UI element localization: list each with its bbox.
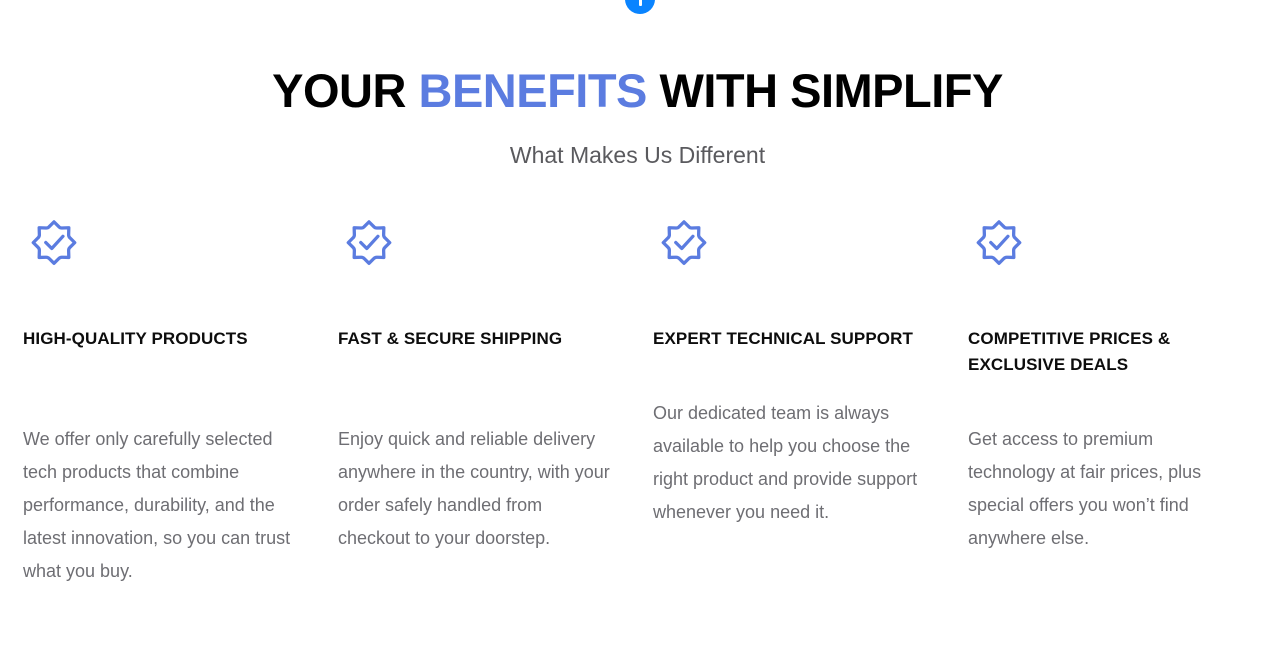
benefit-body: Enjoy quick and reliable delivery anywhe… [338,352,612,555]
benefit-body: We offer only carefully selected tech pr… [23,352,297,588]
benefit-title: COMPETITIVE PRICES & EXCLUSIVE DEALS [968,274,1238,378]
section-header: YOUR BENEFITS WITH SIMPLIFY What Makes U… [0,0,1275,170]
page-subtitle: What Makes Us Different [0,120,1275,170]
benefit-title: HIGH-QUALITY PRODUCTS [23,274,248,352]
benefit-body: Our dedicated team is always available t… [653,352,927,529]
page-title-accent: BENEFITS [419,64,647,117]
verified-badge-check-icon [653,212,715,274]
benefit-body: Get access to premium technology at fair… [968,378,1242,555]
benefit-title: EXPERT TECHNICAL SUPPORT [653,274,913,352]
verified-badge-check-icon [23,212,85,274]
benefits-grid: HIGH-QUALITY PRODUCTS We offer only care… [23,212,1252,588]
benefit-title: FAST & SECURE SHIPPING [338,274,562,352]
verified-badge-check-icon [968,212,1030,274]
benefit-card-high-quality-products: HIGH-QUALITY PRODUCTS We offer only care… [23,212,304,588]
benefit-card-fast-secure-shipping: FAST & SECURE SHIPPING Enjoy quick and r… [338,212,619,555]
page-title-prefix: YOUR [272,64,418,117]
page-title-suffix: WITH SIMPLIFY [647,64,1003,117]
benefit-card-competitive-prices-exclusive-deals: COMPETITIVE PRICES & EXCLUSIVE DEALS Get… [968,212,1249,555]
verified-badge-check-icon [338,212,400,274]
benefit-card-expert-technical-support: EXPERT TECHNICAL SUPPORT Our dedicated t… [653,212,934,529]
page-title: YOUR BENEFITS WITH SIMPLIFY [0,0,1275,120]
